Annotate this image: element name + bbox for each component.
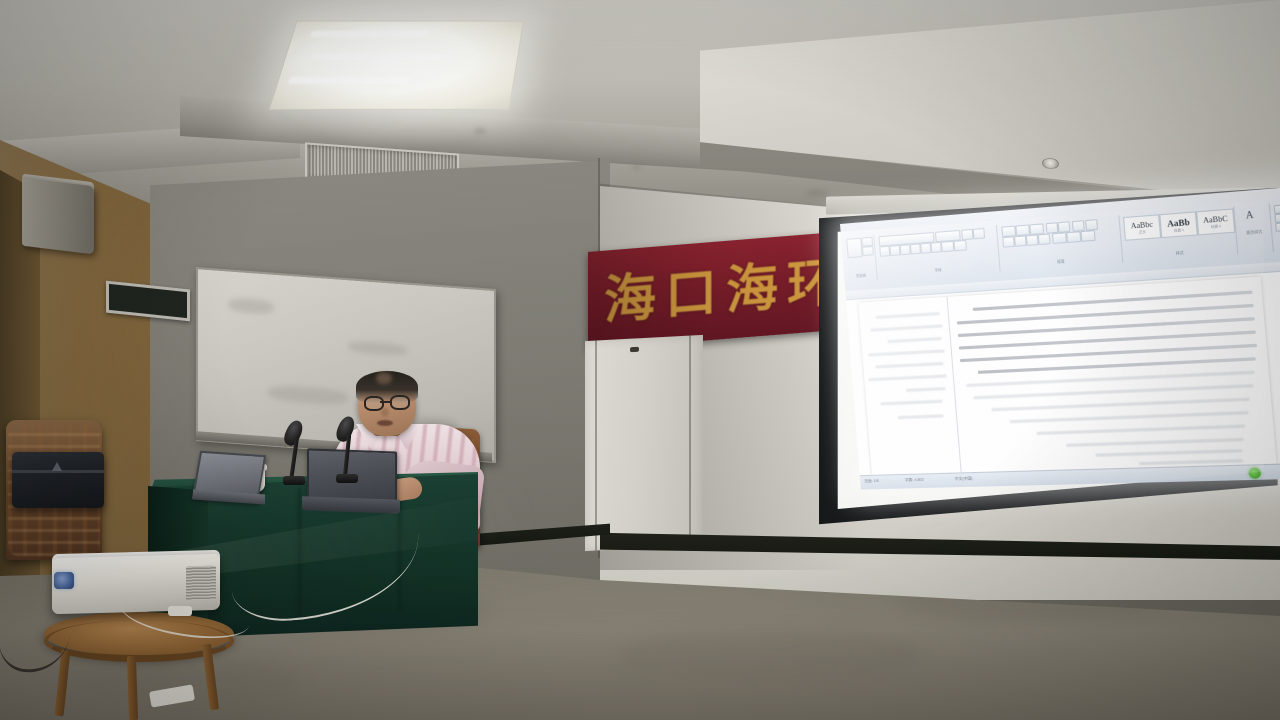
ribbon-group-paragraph: 段落: [998, 215, 1123, 271]
doc-line: [1037, 425, 1245, 436]
laptop-bag: [12, 452, 104, 508]
shrink-font-button[interactable]: [973, 228, 985, 239]
doc-line: [875, 362, 943, 369]
borders-button[interactable]: [1080, 230, 1095, 242]
doc-line: [966, 371, 1254, 387]
style-swatch-heading2[interactable]: AaBbC 标题 2: [1196, 208, 1235, 235]
justify-button[interactable]: [1038, 234, 1051, 246]
ribbon-group-label-paragraph: 段落: [1001, 254, 1122, 268]
microphone-base-left: [283, 476, 305, 485]
presenter-nose: [381, 408, 389, 417]
wechat-icon[interactable]: [1248, 467, 1261, 478]
wall-speaker: [22, 178, 94, 255]
change-styles-icon[interactable]: A: [1245, 209, 1254, 221]
conference-room-photo: 海口海环院环境: [0, 0, 1280, 720]
light-tube: [310, 31, 429, 38]
door-seam: [595, 340, 597, 550]
ribbon-group-change-styles: A 更改样式: [1235, 203, 1274, 254]
presenter-hair-highlight: [376, 372, 392, 384]
align-right-button[interactable]: [1026, 234, 1039, 245]
doc-line: [868, 349, 944, 356]
eyeglasses-bridge: [380, 401, 390, 403]
light-tube: [288, 77, 409, 84]
font-color-button[interactable]: [954, 240, 967, 251]
align-center-button[interactable]: [1014, 235, 1027, 246]
doc-line: [1066, 438, 1244, 447]
whiteboard-smudge: [268, 384, 348, 406]
projector-lens: [54, 572, 74, 589]
carpet-mottle: [620, 630, 920, 682]
light-tube: [311, 53, 442, 60]
doc-line: [868, 374, 946, 381]
ribbon-group-font: 字体: [875, 225, 1000, 280]
whiteboard-smudge: [228, 297, 274, 314]
ribbon-group-label-styles: 样式: [1124, 246, 1237, 259]
word-document-page[interactable]: [858, 277, 1276, 475]
shading-button[interactable]: [1066, 231, 1081, 243]
style-name-heading1: 标题 1: [1174, 227, 1184, 232]
ceiling-light-panel: [269, 21, 524, 110]
status-word-count: 字数: 4,802: [905, 478, 924, 484]
doc-line: [871, 324, 943, 331]
eyeglasses-lens-right: [390, 395, 410, 410]
projection-screen: 开始 插入 页面布局 引用 邮件 审阅 视图 剪贴板: [812, 186, 1280, 526]
copy-button[interactable]: [862, 246, 874, 256]
style-name-heading2: 标题 2: [1211, 224, 1221, 229]
ceiling-mark: [474, 128, 486, 134]
wall-door-panel[interactable]: [585, 335, 703, 551]
doc-line: [973, 384, 1253, 399]
projected-desktop: 开始 插入 页面布局 引用 邮件 审阅 视图 剪贴板: [840, 186, 1280, 489]
select-button[interactable]: [1275, 221, 1280, 232]
change-styles-label: 更改样式: [1238, 228, 1272, 236]
microphone-base-right: [336, 474, 358, 483]
doc-line: [906, 387, 946, 392]
doc-line: [888, 337, 942, 343]
replace-button[interactable]: [1274, 212, 1280, 223]
show-marks-button[interactable]: [1085, 219, 1098, 231]
style-name-normal: 正文: [1139, 229, 1146, 234]
presenter-mouth: [377, 420, 393, 426]
doc-line: [991, 398, 1249, 412]
style-swatch-heading1[interactable]: AaBb 标题 1: [1159, 211, 1198, 238]
door-latch[interactable]: [630, 347, 639, 352]
doc-line: [898, 414, 944, 419]
ribbon-group-styles: AaBbc 正文 AaBb 标题 1 AaBbC 标题 2 样式: [1121, 206, 1239, 262]
line-spacing-button[interactable]: [1052, 232, 1067, 244]
word-application-window: 开始 插入 页面布局 引用 邮件 审阅 视图 剪贴板: [840, 186, 1280, 489]
align-left-button[interactable]: [1002, 236, 1015, 247]
style-swatch-normal[interactable]: AaBbc 正文: [1123, 214, 1161, 241]
paste-button[interactable]: [846, 238, 863, 259]
find-button[interactable]: [1274, 203, 1280, 214]
doc-line: [1010, 411, 1249, 423]
ceiling-mark: [632, 165, 642, 170]
ribbon-group-label-clipboard: 剪贴板: [846, 272, 877, 279]
grow-font-button[interactable]: [961, 229, 973, 240]
ribbon-group-label-font: 字体: [878, 263, 999, 277]
doc-line: [1096, 449, 1243, 457]
whiteboard-smudge: [348, 340, 408, 356]
doc-line: [876, 312, 940, 319]
ribbon-group-clipboard: 剪贴板: [843, 235, 878, 282]
door-seam: [689, 336, 691, 546]
ribbon-group-label-editing: 编辑: [1274, 241, 1280, 249]
doc-line: [880, 400, 942, 406]
text-highlight-button[interactable]: [941, 241, 954, 252]
status-language: 中文(中国): [955, 476, 973, 482]
status-page-info: 页面: 1/8: [864, 479, 879, 485]
recessed-downlight: [1042, 158, 1059, 170]
